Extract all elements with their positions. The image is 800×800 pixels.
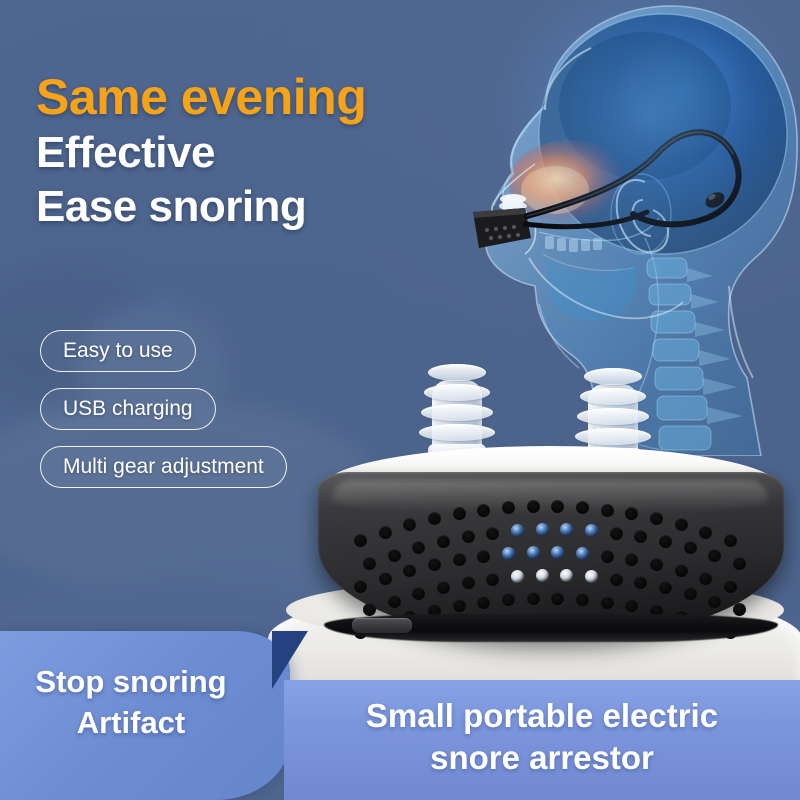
banner-left-line-2: Artifact bbox=[0, 703, 262, 744]
banner-right-line-2: snore arrestor bbox=[290, 737, 794, 779]
device-vent-holes bbox=[318, 472, 784, 602]
head-glow bbox=[415, 0, 800, 416]
feature-pill-label: USB charging bbox=[63, 397, 193, 421]
headline-line-1: Same evening bbox=[36, 72, 456, 122]
bottom-banner-left-text: Stop snoring Artifact bbox=[0, 662, 262, 744]
banner-right-line-1: Small portable electric bbox=[290, 695, 794, 737]
feature-pill-multi-gear-adjustment[interactable]: Multi gear adjustment bbox=[40, 446, 287, 488]
feature-pill-list: Easy to use USB charging Multi gear adju… bbox=[40, 330, 287, 504]
headline-line-2: Effective bbox=[36, 131, 456, 175]
product-device bbox=[318, 446, 784, 642]
bottom-banner-right-text: Small portable electric snore arrestor bbox=[290, 695, 794, 779]
headline-line-3: Ease snoring bbox=[36, 185, 456, 229]
banner-left-line-1: Stop snoring bbox=[0, 662, 262, 703]
product-advertisement: Same evening Effective Ease snoring Easy… bbox=[0, 0, 800, 800]
feature-pill-usb-charging[interactable]: USB charging bbox=[40, 388, 216, 430]
feature-pill-label: Multi gear adjustment bbox=[63, 455, 264, 479]
feature-pill-easy-to-use[interactable]: Easy to use bbox=[40, 330, 196, 372]
feature-pill-label: Easy to use bbox=[63, 339, 173, 363]
device-usb-port[interactable] bbox=[352, 618, 412, 633]
headline-block: Same evening Effective Ease snoring bbox=[36, 72, 456, 229]
